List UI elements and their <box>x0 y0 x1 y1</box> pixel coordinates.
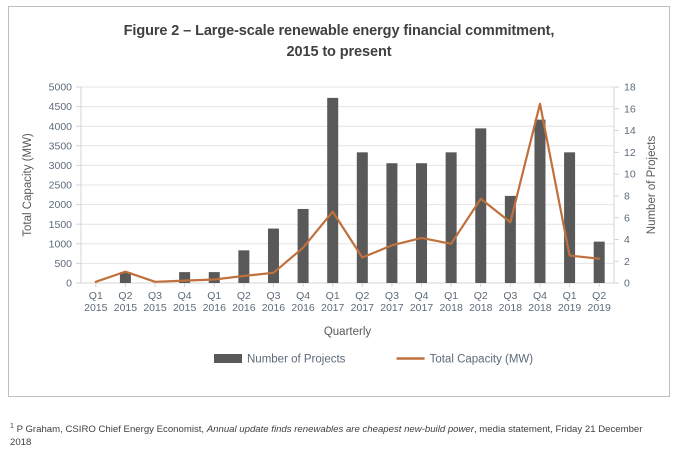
x-axis-tick-label: Q4 <box>178 290 192 302</box>
bar[interactable] <box>298 209 309 283</box>
x-axis-tick-label: 2019 <box>588 302 612 314</box>
y2-axis-tick-label: 16 <box>624 103 636 115</box>
x-axis-tick-label: Q2 <box>355 290 369 302</box>
y-axis-tick-label: 4500 <box>49 101 73 113</box>
chart-plot-area: 0500100015002000250030003500400045005000… <box>9 67 669 392</box>
x-axis-tick-label: 2015 <box>143 302 167 314</box>
bar[interactable] <box>534 120 545 283</box>
y-axis-tick-label: 1000 <box>49 238 73 250</box>
y2-axis-tick-label: 18 <box>624 82 636 94</box>
y2-axis-tick-label: 6 <box>624 212 630 224</box>
y-axis-tick-label: 2500 <box>49 180 73 192</box>
bar[interactable] <box>416 163 427 283</box>
y-axis-tick-label: 500 <box>54 258 72 270</box>
combo-chart: 0500100015002000250030003500400045005000… <box>9 67 669 392</box>
x-axis-tick-label: Q2 <box>592 290 606 302</box>
x-axis-tick-label: Q3 <box>148 290 162 302</box>
x-axis-tick-label: 2018 <box>469 302 493 314</box>
x-axis-tick-label: 2017 <box>410 302 434 314</box>
y-axis-tick-label: 2000 <box>49 199 73 211</box>
legend-label[interactable]: Total Capacity (MW) <box>430 354 534 366</box>
footnote-text-before: P Graham, CSIRO Chief Energy Economist, <box>14 424 207 435</box>
y2-axis-tick-label: 10 <box>624 169 636 181</box>
bar[interactable] <box>386 163 397 283</box>
figure-title: Figure 2 – Large-scale renewable energy … <box>49 21 629 63</box>
y2-axis-tick-label: 14 <box>624 125 636 137</box>
x-axis-tick-label: Q3 <box>503 290 517 302</box>
y2-axis-tick-label: 2 <box>624 256 630 268</box>
x-axis-tick-label: 2017 <box>351 302 375 314</box>
y-axis-tick-label: 0 <box>66 278 72 290</box>
bar[interactable] <box>209 272 220 283</box>
y-axis-tick-label: 3000 <box>49 160 73 172</box>
x-axis-tick-label: 2015 <box>114 302 138 314</box>
y2-axis-tick-label: 4 <box>624 234 630 246</box>
x-axis-tick-label: Q3 <box>266 290 280 302</box>
bar[interactable] <box>268 229 279 283</box>
x-axis-tick-label: Q2 <box>474 290 488 302</box>
legend-swatch-bar[interactable] <box>214 354 242 363</box>
y-axis-tick-label: 3500 <box>49 140 73 152</box>
x-axis-tick-label: Q1 <box>326 290 340 302</box>
x-axis-tick-label: Q4 <box>415 290 429 302</box>
x-axis-tick-label: 2018 <box>528 302 552 314</box>
y-axis-title: Total Capacity (MW) <box>22 133 34 237</box>
x-axis-tick-label: 2015 <box>84 302 108 314</box>
y-axis-tick-label: 1500 <box>49 219 73 231</box>
x-axis-tick-label: 2016 <box>262 302 286 314</box>
line-series[interactable] <box>96 104 599 282</box>
bar[interactable] <box>327 98 338 283</box>
bar[interactable] <box>594 242 605 283</box>
x-axis-tick-label: 2016 <box>203 302 227 314</box>
y2-axis-title: Number of Projects <box>646 136 658 235</box>
x-axis-tick-label: Q1 <box>444 290 458 302</box>
footnote: 1 P Graham, CSIRO Chief Energy Economist… <box>10 420 650 449</box>
x-axis-tick-label: Q1 <box>563 290 577 302</box>
bar[interactable] <box>238 250 249 283</box>
x-axis-tick-label: 2019 <box>558 302 582 314</box>
x-axis-tick-label: Q4 <box>533 290 547 302</box>
figure-title-line1: Figure 2 – Large-scale renewable energy … <box>124 23 555 39</box>
y2-axis-tick-label: 0 <box>624 278 630 290</box>
bar[interactable] <box>357 152 368 283</box>
bar[interactable] <box>564 152 575 283</box>
y-axis-tick-label: 5000 <box>49 82 73 94</box>
x-axis-tick-label: Q2 <box>118 290 132 302</box>
bar[interactable] <box>446 152 457 283</box>
figure-title-line2: 2015 to present <box>287 44 392 60</box>
x-axis-tick-label: 2017 <box>380 302 404 314</box>
y-axis-tick-label: 4000 <box>49 121 73 133</box>
legend-label[interactable]: Number of Projects <box>247 354 346 366</box>
x-axis-tick-label: Q3 <box>385 290 399 302</box>
x-axis-tick-label: 2016 <box>291 302 315 314</box>
x-axis-tick-label: Q2 <box>237 290 251 302</box>
y2-axis-tick-label: 12 <box>624 147 636 159</box>
footnote-citation-title: Annual update finds renewables are cheap… <box>207 424 474 435</box>
figure-container: Figure 2 – Large-scale renewable energy … <box>8 6 670 397</box>
x-axis-tick-label: Q1 <box>89 290 103 302</box>
x-axis-tick-label: 2018 <box>499 302 523 314</box>
x-axis-tick-label: Q1 <box>207 290 221 302</box>
x-axis-tick-label: Q4 <box>296 290 310 302</box>
x-axis-tick-label: 2016 <box>232 302 256 314</box>
x-axis-tick-label: 2017 <box>321 302 345 314</box>
x-axis-title: Quarterly <box>324 326 372 338</box>
x-axis-tick-label: 2018 <box>439 302 463 314</box>
y2-axis-tick-label: 8 <box>624 190 630 202</box>
x-axis-tick-label: 2015 <box>173 302 197 314</box>
